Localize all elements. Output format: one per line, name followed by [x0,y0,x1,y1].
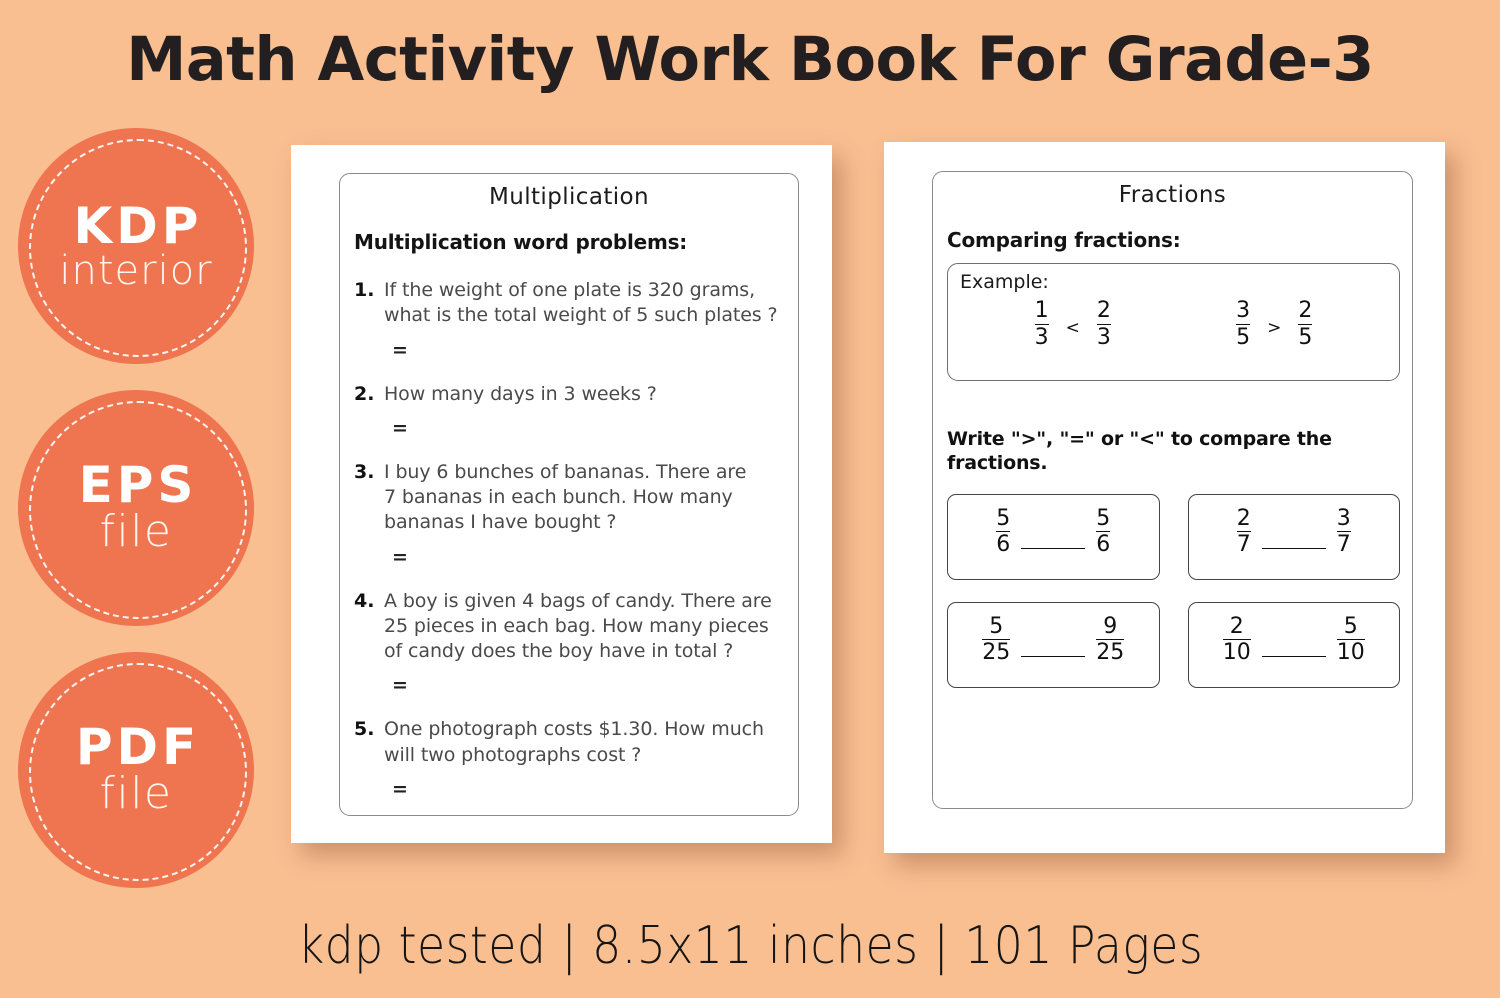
badge-eps-title: EPS [75,460,198,511]
fraction: 2 3 [1090,299,1118,350]
answer-blank[interactable]: = [392,780,786,799]
exercise-comparison: 5 25 9 25 [975,615,1131,666]
question-text: One photograph costs $1.30. How much wil… [384,717,764,768]
fraction: 5 6 [989,507,1017,558]
fraction-numerator: 2 [1237,507,1251,532]
fraction-numerator: 5 [982,615,1010,640]
fractions-sheet-frame: Fractions Comparing fractions: Example: … [932,171,1413,809]
answer-blank-line[interactable] [1021,548,1085,549]
question-item: 4. A boy is given 4 bags of candy. There… [354,589,786,665]
fraction-denominator: 3 [1035,324,1049,351]
example-box: Example: 1 3 < 2 3 [947,263,1400,381]
badge-kdp-interior: KDP interior [18,128,254,364]
fraction-numerator: 5 [1096,507,1110,532]
multiplication-section-heading: Multiplication word problems: [354,230,786,254]
badge-eps-subtitle: file [99,509,172,555]
fraction-numerator: 2 [1223,615,1251,640]
question-block: 1. If the weight of one plate is 320 gra… [354,278,786,360]
multiplication-sheet-body: Multiplication word problems: 1. If the … [354,230,786,807]
question-item: 1. If the weight of one plate is 320 gra… [354,278,786,329]
fraction: 1 3 [1028,299,1056,350]
fraction: 2 10 [1216,615,1258,666]
fraction-denominator: 6 [1096,531,1110,558]
fraction-numerator: 3 [1337,507,1351,532]
multiplication-sheet-frame: Multiplication Multiplication word probl… [339,173,799,816]
fraction: 5 25 [975,615,1017,666]
fraction-numerator: 3 [1236,299,1250,324]
exercise-box[interactable]: 2 7 3 7 [1188,494,1401,580]
badge-kdp-title: KDP [70,201,203,252]
question-number: 2. [354,382,384,407]
question-block: 3. I buy 6 bunches of bananas. There are… [354,460,786,567]
fractions-exercise-grid: 5 6 5 6 2 7 [947,494,1400,688]
multiplication-sheet-title: Multiplication [340,184,798,210]
exercise-comparison: 2 10 5 10 [1216,615,1372,666]
example-rows: 1 3 < 2 3 3 5 > [960,299,1387,350]
fraction-denominator: 10 [1337,639,1365,666]
answer-blank-line[interactable] [1262,656,1326,657]
answer-blank[interactable]: = [392,676,786,695]
answer-blank[interactable]: = [392,341,786,360]
question-block: 4. A boy is given 4 bags of candy. There… [354,589,786,696]
fraction-denominator: 7 [1237,531,1251,558]
question-number: 3. [354,460,384,536]
question-item: 2. How many days in 3 weeks ? [354,382,786,407]
fractions-sheet-title: Fractions [933,182,1412,208]
example-comparison: 1 3 < 2 3 [1028,299,1118,350]
fraction: 2 5 [1291,299,1319,350]
exercise-box[interactable]: 5 6 5 6 [947,494,1160,580]
question-text: A boy is given 4 bags of candy. There ar… [384,589,772,665]
example-label: Example: [960,271,1387,293]
question-block: 2. How many days in 3 weeks ? = [354,382,786,438]
answer-blank-line[interactable] [1021,656,1085,657]
question-text: How many days in 3 weeks ? [384,382,657,407]
badge-pdf-file: PDF file [18,652,254,888]
fraction-denominator: 3 [1097,324,1111,351]
question-item: 3. I buy 6 bunches of bananas. There are… [354,460,786,536]
footer-bar: kdp tested | 8.5x11 inches | 101 Pages [0,916,1500,976]
question-item: 5. One photograph costs $1.30. How much … [354,717,786,768]
answer-blank[interactable]: = [392,419,786,438]
fraction-numerator: 9 [1096,615,1124,640]
fraction-denominator: 10 [1223,639,1251,666]
fraction-numerator: 5 [996,507,1010,532]
footer-text: kdp tested | 8.5x11 inches | 101 Pages [297,916,1202,976]
fraction-denominator: 25 [982,639,1010,666]
fraction: 5 6 [1089,507,1117,558]
fractions-sheet-body: Comparing fractions: Example: 1 3 < 2 3 [947,228,1400,800]
worksheet-page-fractions: Fractions Comparing fractions: Example: … [884,142,1445,853]
fraction-denominator: 5 [1298,324,1312,351]
exercise-box[interactable]: 5 25 9 25 [947,602,1160,688]
exercise-comparison: 5 6 5 6 [989,507,1117,558]
fraction-numerator: 1 [1035,299,1049,324]
answer-blank-line[interactable] [1262,548,1326,549]
question-number: 1. [354,278,384,329]
page-title: Math Activity Work Book For Grade-3 [126,24,1373,95]
fractions-instruction: Write ">", "=" or "<" to compare the fra… [947,427,1400,476]
question-number: 5. [354,717,384,768]
fraction: 5 10 [1330,615,1372,666]
title-bar: Math Activity Work Book For Grade-3 [0,0,1500,118]
example-comparison: 3 5 > 2 5 [1229,299,1319,350]
fraction-numerator: 2 [1097,299,1111,324]
fraction-denominator: 6 [996,531,1010,558]
fraction-numerator: 5 [1337,615,1365,640]
question-number: 4. [354,589,384,665]
comparison-operator: < [1066,318,1080,338]
badge-kdp-subtitle: interior [59,250,212,292]
badge-pdf-title: PDF [72,722,200,773]
question-text: If the weight of one plate is 320 grams,… [384,278,778,329]
question-block: 5. One photograph costs $1.30. How much … [354,717,786,799]
fraction-denominator: 25 [1096,639,1124,666]
worksheet-page-multiplication: Multiplication Multiplication word probl… [291,145,832,843]
fraction-denominator: 7 [1337,531,1351,558]
fraction: 3 5 [1229,299,1257,350]
badge-column: KDP interior EPS file PDF file [18,128,268,888]
exercise-box[interactable]: 2 10 5 10 [1188,602,1401,688]
question-text: I buy 6 bunches of bananas. There are 7 … [384,460,746,536]
fractions-section-heading: Comparing fractions: [947,228,1400,252]
badge-pdf-subtitle: file [99,771,172,817]
fraction-numerator: 2 [1298,299,1312,324]
fraction-denominator: 5 [1236,324,1250,351]
comparison-operator: > [1267,318,1281,338]
badge-eps-file: EPS file [18,390,254,626]
exercise-comparison: 2 7 3 7 [1230,507,1358,558]
answer-blank[interactable]: = [392,548,786,567]
fraction: 9 25 [1089,615,1131,666]
fraction: 3 7 [1330,507,1358,558]
fraction: 2 7 [1230,507,1258,558]
